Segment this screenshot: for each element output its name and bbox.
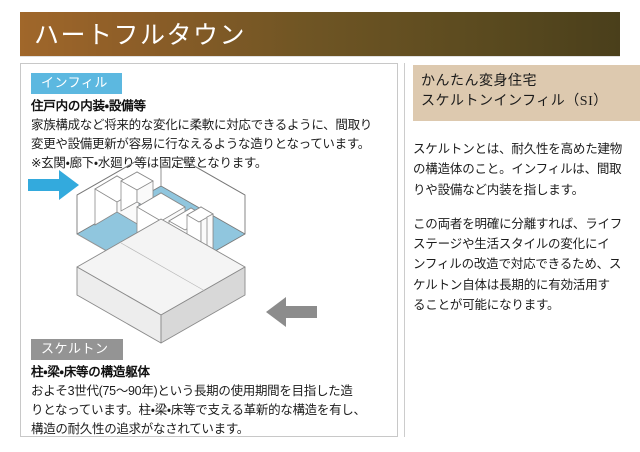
right-paragraph-line: りや設備など内装を指します。	[413, 180, 639, 200]
skeleton-body-line: およそ3世代(75〜90年)という長期の使用期間を目指した造	[31, 382, 389, 401]
right-paragraph-line: この両者を明確に分離すれば、ライフ	[413, 214, 639, 234]
right-paragraph-line: ンフィルの改造で対応できるため、ス	[413, 254, 639, 274]
skeleton-arrow-icon	[266, 297, 317, 327]
right-info-panel: かんたん変身住宅 スケルトンインフィル（SI） スケルトンとは、耐久性を高めた建…	[404, 63, 640, 437]
left-content-panel: インフィル 住戸内の内装・設備等 家族構成など将来的な変化に柔軟に対応できるよう…	[20, 63, 398, 437]
right-panel-title-line-1: かんたん変身住宅	[421, 72, 640, 92]
skeleton-infill-diagram: .ol { fill:none; stroke:#7a7a7a; stroke-…	[21, 159, 399, 344]
infill-arrow-icon	[28, 170, 79, 200]
right-paragraph-line: ケルトン自体は長期的に有効活用す	[413, 275, 639, 295]
right-panel-body: スケルトンとは、耐久性を高めた建物 の構造体のこと。インフィルは、間取 りや設備…	[413, 125, 639, 329]
page-header-banner: ハートフルタウン	[20, 12, 620, 56]
skeleton-body-line: りとなっています。柱・梁・床等で支える革新的な構造を有し、	[31, 401, 389, 420]
right-panel-title-line-2: スケルトンインフィル（SI）	[421, 92, 640, 112]
right-panel-title-band: かんたん変身住宅 スケルトンインフィル（SI）	[413, 65, 640, 121]
skeleton-body-line: 構造の耐久性の追求がなされています。	[31, 420, 389, 439]
skeleton-badge: スケルトン	[31, 339, 123, 360]
skeleton-subtitle: 柱・梁・床等の構造躯体	[31, 364, 389, 381]
infill-subtitle: 住戸内の内装・設備等	[31, 98, 389, 115]
right-paragraph-line: スケルトンとは、耐久性を高めた建物	[413, 139, 639, 159]
right-paragraph-line: の構造体のこと。インフィルは、間取	[413, 159, 639, 179]
right-paragraph-line: ることが可能になります。	[413, 295, 639, 315]
infill-body-line: 変更や設備更新が容易に行なえるような造りとなっています。	[31, 135, 389, 154]
infill-badge: インフィル	[31, 73, 122, 94]
skeleton-body: およそ3世代(75〜90年)という長期の使用期間を目指した造 りとなっています。…	[31, 382, 389, 439]
infill-body-line: 家族構成など将来的な変化に柔軟に対応できるように、間取り	[31, 116, 389, 135]
page-title: ハートフルタウン	[34, 15, 246, 51]
right-paragraph-line: ステージや生活スタイルの変化にイ	[413, 234, 639, 254]
skeleton-section: スケルトン 柱・梁・床等の構造躯体 およそ3世代(75〜90年)という長期の使用…	[31, 339, 389, 439]
